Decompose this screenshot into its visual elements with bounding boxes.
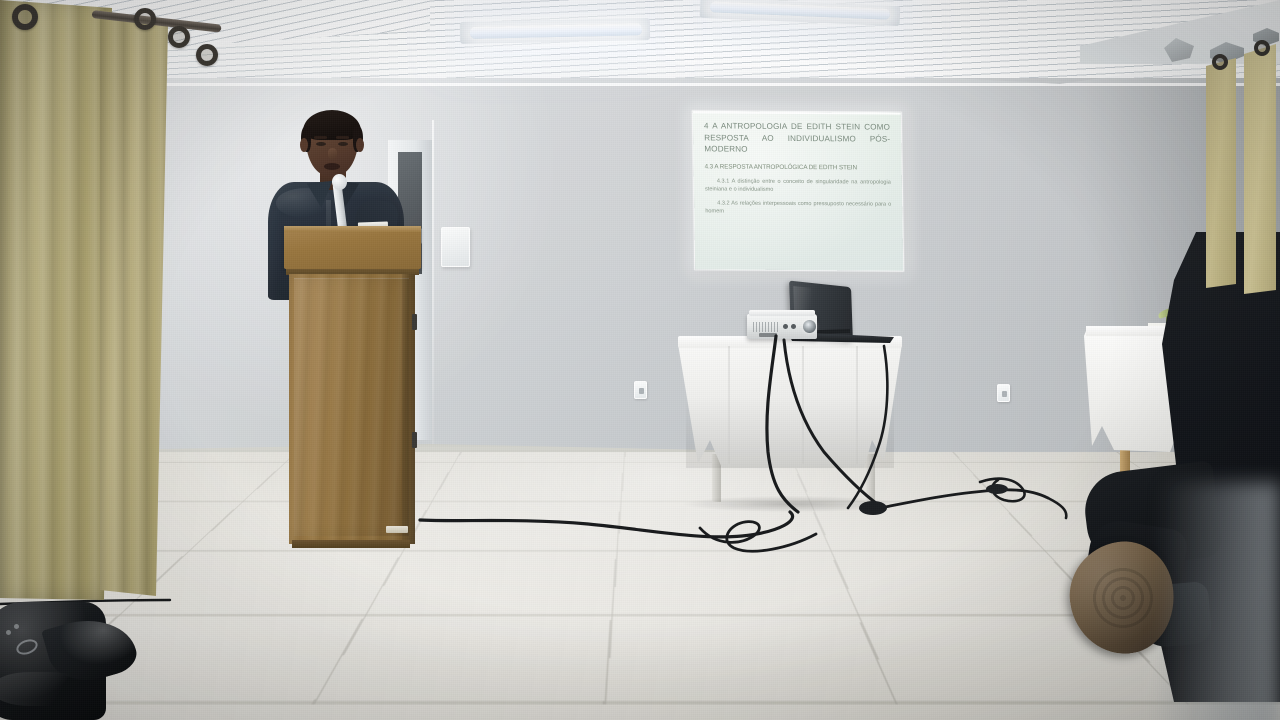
- curtain-grommet: [12, 4, 38, 30]
- curtain-grommet: [196, 44, 218, 66]
- black-boot-highlight: [0, 672, 86, 706]
- projector-port: [783, 324, 788, 329]
- slide-section-heading: 4.3 A RESPOSTA ANTROPOLÓGICA DE EDITH ST…: [705, 162, 891, 172]
- slide-bullet-1: 4.3.1 A distinção entre o conceito de si…: [705, 178, 891, 195]
- presenter-eyebrow-left: [314, 136, 327, 139]
- outlet-plate-center: [634, 381, 647, 399]
- curtain-grommet: [134, 8, 156, 30]
- projector-top: [749, 310, 815, 316]
- table-floor-shadow: [684, 496, 898, 512]
- slide-bullet-2: 4.3.2 As relações interpessoais como pre…: [705, 201, 891, 218]
- podium-front-panel: [294, 278, 409, 536]
- podium-base: [292, 540, 410, 548]
- projected-slide: 4 A ANTROPOLOGIA DE EDITH STEIN COMO RES…: [693, 111, 904, 270]
- projector-port: [791, 324, 796, 329]
- wall-seam: [432, 120, 434, 450]
- black-boot-eyelet: [14, 624, 19, 629]
- wall-mounted-box: [441, 227, 470, 267]
- podium-hinge-top: [412, 314, 417, 330]
- presenter-nose: [328, 148, 337, 160]
- presenter-eye-right: [338, 142, 348, 146]
- video-projector[interactable]: [747, 310, 817, 342]
- presentation-room-photo: 4 A ANTROPOLOGIA DE EDITH STEIN COMO RES…: [0, 0, 1280, 720]
- cloth-shadow: [686, 396, 894, 468]
- podium-hinge-bottom: [412, 432, 417, 448]
- outlet-plate-right: [997, 384, 1010, 402]
- presenter-ear-left: [300, 138, 308, 152]
- projector-lens: [803, 320, 816, 333]
- curtain-right-panel-outer[interactable]: [1244, 44, 1276, 294]
- curtain-grommet: [1254, 40, 1270, 56]
- foreground-blur-veil: [1160, 482, 1280, 720]
- slide-top-edge: [693, 111, 901, 114]
- curtain-grommet: [1212, 54, 1228, 70]
- curtain-grommet: [168, 26, 190, 48]
- presenter-eyebrow-right: [336, 136, 349, 139]
- presenter-ear-right: [356, 138, 364, 152]
- foreground-black-boot: [0, 586, 166, 720]
- slide-title: 4 A ANTROPOLOGIA DE EDITH STEIN COMO RES…: [704, 120, 891, 156]
- presenter-eye-left: [316, 142, 326, 146]
- podium-top-edge: [284, 226, 421, 232]
- curtain-right-panel[interactable]: [1206, 58, 1236, 288]
- black-boot-eyelet: [6, 630, 11, 635]
- foreground-audience-member: [1030, 232, 1280, 720]
- projector-vent: [753, 322, 779, 332]
- podium-label-plate: [386, 526, 408, 533]
- projector-brand-label: [759, 333, 777, 337]
- curtain-left-panel[interactable]: [0, 0, 112, 600]
- podium-top-surface: [284, 226, 421, 269]
- presenter-mouth: [324, 163, 340, 170]
- wooden-podium: [284, 226, 421, 546]
- projector-table: [676, 336, 904, 516]
